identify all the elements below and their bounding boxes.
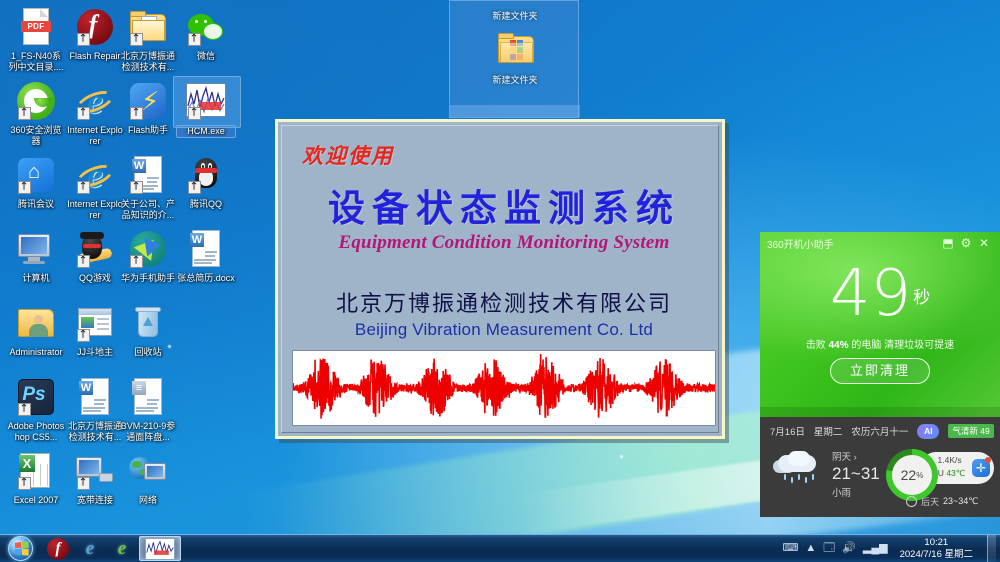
forecast-label: 后天 <box>921 495 939 508</box>
recycle-bin-icon <box>118 300 178 346</box>
windows-flag-icon <box>14 541 28 556</box>
taskbar-hcm[interactable] <box>139 536 181 561</box>
wechat-icon: ↗ <box>176 4 236 50</box>
desktop-icon-recycle-bin[interactable]: 回收站 <box>118 300 178 358</box>
desktop-icon-pdf-catalog[interactable]: PDF 1_FS-N40系列中文目录.... <box>6 4 66 72</box>
volume-icon[interactable]: 🔊 <box>842 543 856 554</box>
splash-inner-panel: 欢迎使用 设备状态监测系统 Equipment Condition Monito… <box>281 125 719 433</box>
desktop-icon-label: 360安全浏览器 <box>6 125 66 146</box>
splash-welcome-text: 欢迎使用 <box>302 140 394 170</box>
shortcut-overlay-icon: ↗ <box>77 255 90 268</box>
excel-icon: X ↗ <box>6 448 66 494</box>
splash-company-chinese: 北京万博振通检测技术有限公司 <box>282 286 719 318</box>
tencent-meeting-icon: ⌂ ↗ <box>6 152 66 198</box>
desktop-icon-label: 关于公司、产品知识的介... <box>118 199 178 220</box>
shortcut-overlay-icon: ↗ <box>188 107 201 120</box>
taskbar-items: f e e <box>43 536 181 561</box>
desktop-icon-label: 网络 <box>118 495 178 506</box>
user-folder-icon <box>6 300 66 346</box>
desktop-icon-qq-game[interactable]: ↗ QQ游戏 <box>65 226 125 284</box>
notification-dot <box>985 457 991 463</box>
shortcut-overlay-icon: ↗ <box>130 33 143 46</box>
desktop-icon-network[interactable]: 网络 <box>118 448 178 506</box>
broadband-connection-icon: ↗ <box>65 448 125 494</box>
word-document-icon: W <box>176 226 236 272</box>
splash-title-english: Equipment Condition Monitoring System <box>282 232 719 254</box>
shortcut-overlay-icon: ↗ <box>77 107 90 120</box>
sun-icon <box>906 496 917 507</box>
show-desktop-button[interactable] <box>987 535 996 562</box>
shortcut-overlay-icon: ↗ <box>188 181 201 194</box>
desktop-icon-label: 计算机 <box>6 273 66 284</box>
cpu-temp-value: 43℃ <box>946 468 965 478</box>
shortcut-overlay-icon: ↗ <box>77 33 90 46</box>
shortcut-overlay-icon: ↗ <box>18 181 31 194</box>
shortcut-overlay-icon: ↗ <box>77 181 90 194</box>
shortcut-overlay-icon: ↗ <box>77 329 90 342</box>
chevron-right-icon: › <box>854 452 857 463</box>
computer-icon <box>6 226 66 272</box>
desktop-icon-360-browser[interactable]: ↗ 360安全浏览器 <box>6 78 66 146</box>
forecast-temp: 23~34℃ <box>943 496 978 507</box>
action-center-icon[interactable]: 🗔 <box>823 543 835 554</box>
air-quality-badge: 气清新 49 <box>948 424 993 438</box>
start-button[interactable] <box>1 536 39 562</box>
flash-assistant-icon: ⚡ ↗ <box>118 78 178 124</box>
pdf-document-icon: PDF <box>6 4 66 50</box>
desktop-icon-label: 华为手机助手 <box>118 273 178 284</box>
word-document-icon: W <box>65 374 125 420</box>
rain-cloud-icon <box>772 451 826 491</box>
weather-temp-range: 21~31 <box>832 464 880 484</box>
close-icon[interactable]: ✕ <box>975 234 993 252</box>
folder-item-label: 新建文件夹 <box>484 73 546 86</box>
desktop-icon-huawei-assistant[interactable]: ↗ 华为手机助手 <box>118 226 178 284</box>
desktop-icon-label: 微信 <box>176 51 236 62</box>
desktop-icon-wechat[interactable]: ↗ 微信 <box>176 4 236 62</box>
internet-explorer-icon: e ↗ <box>65 78 125 124</box>
huawei-assistant-icon: ↗ <box>118 226 178 272</box>
network-icon <box>118 448 178 494</box>
desktop-icon-resume-docx[interactable]: W 张总简历.docx <box>176 226 236 284</box>
desktop-icon-flash-assistant[interactable]: ⚡ ↗ Flash助手 <box>118 78 178 136</box>
taskbar-clock[interactable]: 10:21 2024/7/16 星期二 <box>895 537 978 561</box>
desktop-icon-broadband[interactable]: ↗ 宽带连接 <box>65 448 125 506</box>
clock-date: 2024/7/16 星期二 <box>900 549 973 561</box>
folder-region-top-label: 新建文件夹 <box>450 9 580 22</box>
360-browser-icon: ↗ <box>6 78 66 124</box>
word-document-icon: W ↗ <box>118 152 178 198</box>
weather-condition: 小雨 <box>832 485 880 499</box>
shortcut-overlay-icon: ↗ <box>18 107 31 120</box>
desktop-icon-label: JJ斗地主 <box>65 347 125 358</box>
folder-color-icon <box>484 27 546 71</box>
flash-repair-icon: f ↗ <box>65 4 125 50</box>
clock-time: 10:21 <box>900 537 973 549</box>
desktop-icon-label: Adobe Photoshop CS5... <box>6 421 66 442</box>
desktop-background[interactable]: PDF 1_FS-N40系列中文目录.... f ↗ Flash Repair … <box>0 0 1000 534</box>
text-document-icon: ≡ <box>118 374 178 420</box>
photoshop-icon: Ps ↗ <box>6 374 66 420</box>
internet-explorer-icon: e ↗ <box>65 152 125 198</box>
vibration-signal-preview <box>292 350 716 426</box>
desktop-icon-label: Flash Repair <box>65 51 125 62</box>
taskbar-flash-repair[interactable]: f <box>43 537 73 561</box>
desktop-icon-excel-2007[interactable]: X ↗ Excel 2007 <box>6 448 66 506</box>
network-speed-value: 1.4K/s <box>938 455 962 465</box>
shortcut-overlay-icon: ↗ <box>188 33 201 46</box>
360-sub-percent: 44% <box>829 340 849 351</box>
show-hidden-icons-icon[interactable]: ▲ <box>805 543 816 554</box>
desktop-icon-label: Excel 2007 <box>6 495 66 506</box>
start-orb <box>8 536 33 561</box>
splash-title-chinese: 设备状态监测系统 <box>282 178 719 232</box>
360-boot-assistant-widget[interactable]: 360开机小助手 ⬒ ⚙ ✕ 49秒 击败 44% 的电脑 清理垃圾可提速 立即… <box>760 232 1000 417</box>
clean-now-button[interactable]: 立即清理 <box>830 358 930 384</box>
desktop-icon-label: 北京万博振通检测技术有... <box>65 421 125 442</box>
folder-item-new-folder[interactable]: 新建文件夹 <box>484 27 546 86</box>
wallpaper-sparkle <box>620 455 623 458</box>
cpu-gauge-value: 22% <box>892 455 932 495</box>
360-browser-icon: e <box>118 539 126 558</box>
desktop-icon-label: 腾讯会议 <box>6 199 66 210</box>
desktop-icon-label: Internet Explorer <box>65 199 125 220</box>
gear-icon[interactable]: ⚙ <box>957 234 975 252</box>
shortcut-overlay-icon: ↗ <box>77 477 90 490</box>
desktop-icon-flash-repair[interactable]: f ↗ Flash Repair <box>65 4 125 62</box>
desktop-icon-hcm-exe[interactable]: ↗ HCM.exe <box>176 78 236 138</box>
desktop-icon-label: Administrator <box>6 347 66 358</box>
window-app-icon: ↗ <box>65 300 125 346</box>
weather-text-block: 阴天 › 21~31 小雨 <box>832 449 880 499</box>
waveform-plot <box>293 351 715 425</box>
weather-date: 7月16日 <box>770 424 805 438</box>
ai-badge[interactable]: AI <box>917 424 939 439</box>
desktop-icon-internet-explorer[interactable]: e ↗ Internet Explorer <box>65 78 125 146</box>
desktop-icon-jj-landlord[interactable]: ↗ JJ斗地主 <box>65 300 125 358</box>
qq-penguin-icon: ↗ <box>176 152 236 198</box>
taskbar[interactable]: f e e ⌨ ▲ 🗔 🔊 ▂▄▆ 10:21 2024/7/16 星期二 <box>0 534 1000 562</box>
desktop-icon-label: 宽带连接 <box>65 495 125 506</box>
desktop-icon-tencent-meeting[interactable]: ⌂ ↗ 腾讯会议 <box>6 152 66 210</box>
weather-wind: 阴天 › <box>832 449 880 463</box>
360-widget-header: 360开机小助手 ⬒ ⚙ ✕ <box>760 232 1000 254</box>
weather-lunar-date: 农历六月十一 <box>851 424 908 438</box>
desktop-icon-label: BVM-210-9参通面阵盘... <box>118 421 178 442</box>
shortcut-overlay-icon: ↗ <box>130 181 143 194</box>
desktop-icon-tencent-qq[interactable]: ↗ 腾讯QQ <box>176 152 236 210</box>
desktop-icon-company-folder[interactable]: ↗ 北京万博振通检测技术有... <box>118 4 178 72</box>
desktop-icon-label: 腾讯QQ <box>176 199 236 210</box>
qq-game-icon: ↗ <box>65 226 125 272</box>
hcm-waveform-icon <box>145 538 175 560</box>
shortcut-overlay-icon: ↗ <box>130 255 143 268</box>
folder-icon: ↗ <box>118 4 178 50</box>
weather-wind-value: 阴天 <box>832 452 851 463</box>
weather-sysinfo-widget[interactable]: 7月16日 星期二 农历六月十一 AI 气清新 49 阴天 › 21~31 小雨… <box>760 417 1000 517</box>
desktop-icon-label: 回收站 <box>118 347 178 358</box>
desktop-icon-label: QQ游戏 <box>65 273 125 284</box>
desktop-icon-about-company-doc[interactable]: W ↗ 关于公司、产品知识的介... <box>118 152 178 220</box>
desktop-icon-label: 1_FS-N40系列中文目录.... <box>6 51 66 72</box>
cpu-percent-number: 22 <box>901 467 917 483</box>
360-widget-title: 360开机小助手 <box>767 236 939 251</box>
hcm-waveform-icon: ↗ <box>176 78 236 124</box>
desktop-icon-computer[interactable]: 计算机 <box>6 226 66 284</box>
taskbar-internet-explorer[interactable]: e <box>75 537 105 561</box>
360-widget-footer <box>760 407 1000 417</box>
desktop-icon-administrator[interactable]: Administrator <box>6 300 66 358</box>
360-boot-seconds: 49秒 <box>760 262 1000 330</box>
shortcut-overlay-icon: ↗ <box>18 403 31 416</box>
splash-company-english: Beijing Vibration Measurement Co. Ltd <box>282 320 719 340</box>
cpu-percent-unit: % <box>916 471 923 480</box>
shortcut-overlay-icon: ↗ <box>18 477 31 490</box>
desktop-icon-company-doc[interactable]: W 北京万博振通检测技术有... <box>65 374 125 442</box>
desktop-icon-internet-explorer-2[interactable]: e ↗ Internet Explorer <box>65 152 125 220</box>
network-signal-icon[interactable]: ▂▄▆ <box>863 543 888 554</box>
keyboard-ime-icon[interactable]: ⌨ <box>782 543 798 554</box>
desktop-icon-label: 北京万博振通检测技术有... <box>118 51 178 72</box>
360-boot-seconds-value: 49 <box>830 257 911 331</box>
splash-window[interactable]: 欢迎使用 设备状态监测系统 Equipment Condition Monito… <box>275 119 725 439</box>
taskbar-360-browser[interactable]: e <box>107 537 137 561</box>
desktop-icon-label: Internet Explorer <box>65 125 125 146</box>
desktop-icon-label: Flash助手 <box>118 125 178 136</box>
weather-date-bar: 7月16日 星期二 农历六月十一 AI 气清新 49 <box>770 422 996 440</box>
shirt-icon[interactable]: ⬒ <box>939 234 957 252</box>
desktop-icon-bvm-doc[interactable]: ≡ BVM-210-9参通面阵盘... <box>118 374 178 442</box>
cpu-usage-gauge[interactable]: 22% <box>886 449 938 501</box>
weather-weekday: 星期二 <box>814 424 843 438</box>
folder-region-stripe <box>450 105 580 117</box>
desktop-icon-photoshop[interactable]: Ps ↗ Adobe Photoshop CS5... <box>6 374 66 442</box>
weather-forecast: 后天 23~34℃ <box>906 495 978 508</box>
system-tray[interactable]: ⌨ ▲ 🗔 🔊 ▂▄▆ 10:21 2024/7/16 星期二 <box>782 535 1000 562</box>
desktop-icon-grid: PDF 1_FS-N40系列中文目录.... f ↗ Flash Repair … <box>0 0 260 534</box>
360-sub-prefix: 击败 <box>806 340 829 351</box>
360-boot-seconds-unit: 秒 <box>913 288 930 308</box>
shortcut-overlay-icon: ↗ <box>130 107 143 120</box>
360-sub-suffix: 的电脑 清理垃圾可提速 <box>849 340 955 351</box>
360-widget-subtext: 击败 44% 的电脑 清理垃圾可提速 <box>760 336 1000 351</box>
internet-explorer-icon: e <box>86 539 94 558</box>
folder-selection-region[interactable]: 新建文件夹 新建文件夹 <box>449 0 579 118</box>
desktop-icon-label: 张总简历.docx <box>176 273 236 284</box>
